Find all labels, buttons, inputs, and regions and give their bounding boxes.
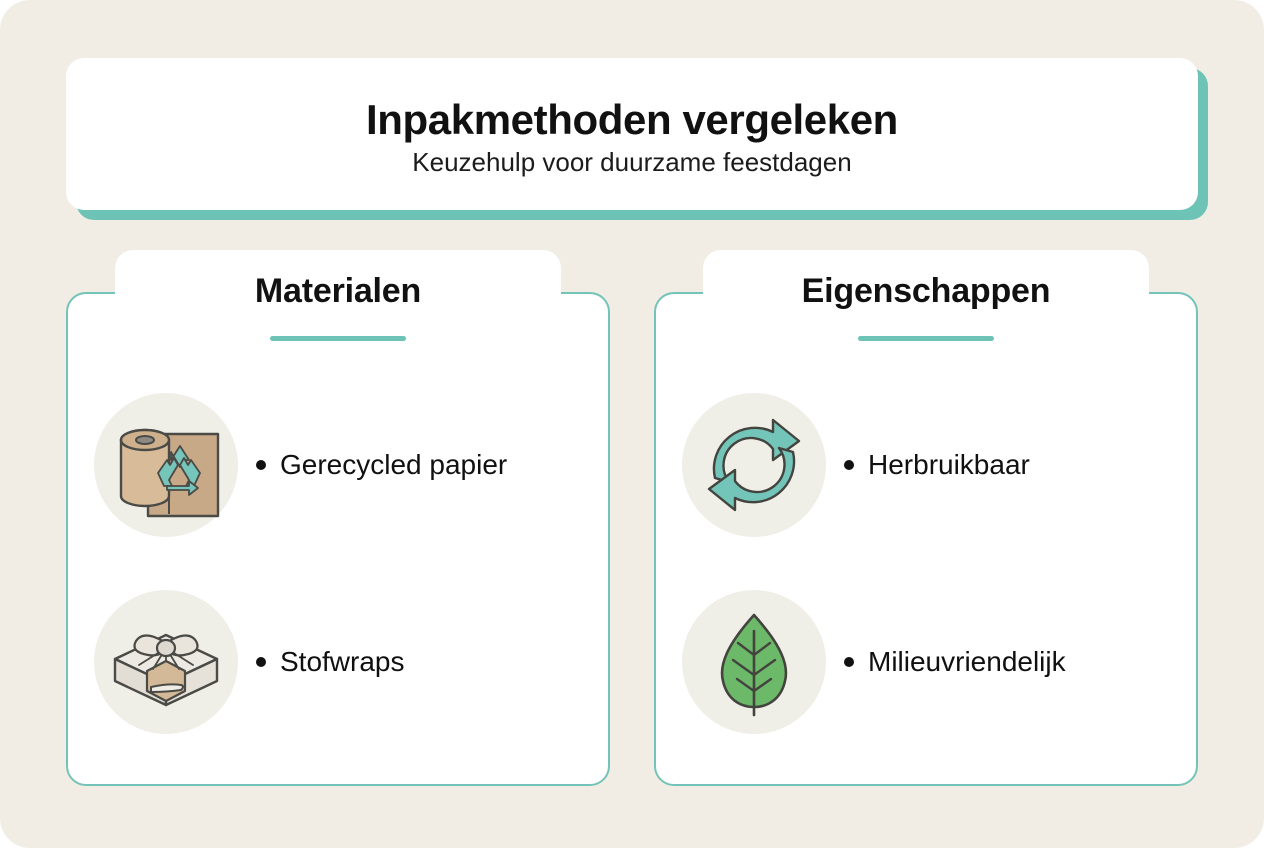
page-title: Inpakmethoden vergeleken [366, 96, 898, 143]
bullet-stofwraps: Stofwraps [256, 641, 405, 683]
panel-materialen-underline [270, 336, 406, 341]
panel-eigenschappen-header: Eigenschappen [703, 250, 1149, 342]
panel-materialen: Materialen [66, 292, 610, 786]
fabric-wrapped-gift-icon [94, 590, 238, 734]
bullet-dot-icon [844, 657, 854, 667]
panel-materialen-body: Gerecycled papier [68, 356, 608, 786]
list-item: Herbruikbaar [682, 393, 1170, 537]
panel-eigenschappen-title: Eigenschappen [802, 274, 1051, 308]
header-banner: Inpakmethoden vergeleken Keuzehulp voor … [66, 58, 1198, 210]
bullet-dot-icon [256, 657, 266, 667]
list-item-label: Gerecycled papier [280, 444, 507, 486]
list-item: Stofwraps [94, 590, 582, 734]
circular-arrows-reuse-icon [682, 393, 826, 537]
list-item: Milieuvriendelijk [682, 590, 1170, 734]
bullet-dot-icon [844, 460, 854, 470]
header-card: Inpakmethoden vergeleken Keuzehulp voor … [66, 58, 1198, 210]
bullet-milieuvriendelijk: Milieuvriendelijk [844, 641, 1066, 683]
panel-materialen-title: Materialen [255, 274, 421, 308]
leaf-icon [682, 590, 826, 734]
recycled-paper-roll-icon [94, 393, 238, 537]
panel-materialen-header: Materialen [115, 250, 561, 342]
list-item-label: Milieuvriendelijk [868, 641, 1066, 683]
bullet-dot-icon [256, 460, 266, 470]
panel-eigenschappen-underline [858, 336, 994, 341]
list-item: Gerecycled papier [94, 393, 582, 537]
list-item-label: Herbruikbaar [868, 444, 1030, 486]
infographic-canvas: Inpakmethoden vergeleken Keuzehulp voor … [0, 0, 1264, 848]
bullet-gerecycled-papier: Gerecycled papier [256, 444, 507, 486]
panel-eigenschappen-body: Herbruikbaar [656, 356, 1196, 786]
bullet-herbruikbaar: Herbruikbaar [844, 444, 1030, 486]
list-item-label: Stofwraps [280, 641, 405, 683]
panel-eigenschappen: Eigenschappen [654, 292, 1198, 786]
page-subtitle: Keuzehulp voor duurzame feestdagen [412, 147, 851, 178]
